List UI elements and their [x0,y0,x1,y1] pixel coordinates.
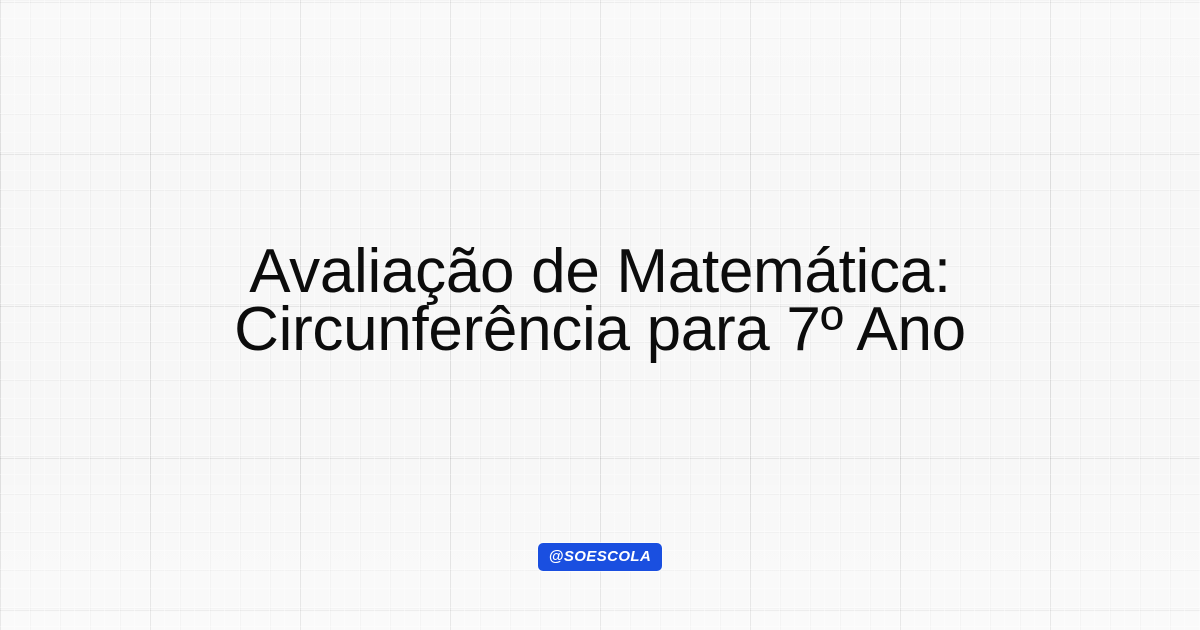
watermark-badge: @SOESCOLA [538,543,662,571]
page-title: Avaliação de Matemática: Circunferência … [0,243,1200,359]
title-line-2: Circunferência para 7º Ano [40,301,1160,359]
share-card: Avaliação de Matemática: Circunferência … [0,0,1200,630]
watermark-row: @SOESCOLA [0,543,1200,571]
title-line-1: Avaliação de Matemática: [40,243,1160,301]
